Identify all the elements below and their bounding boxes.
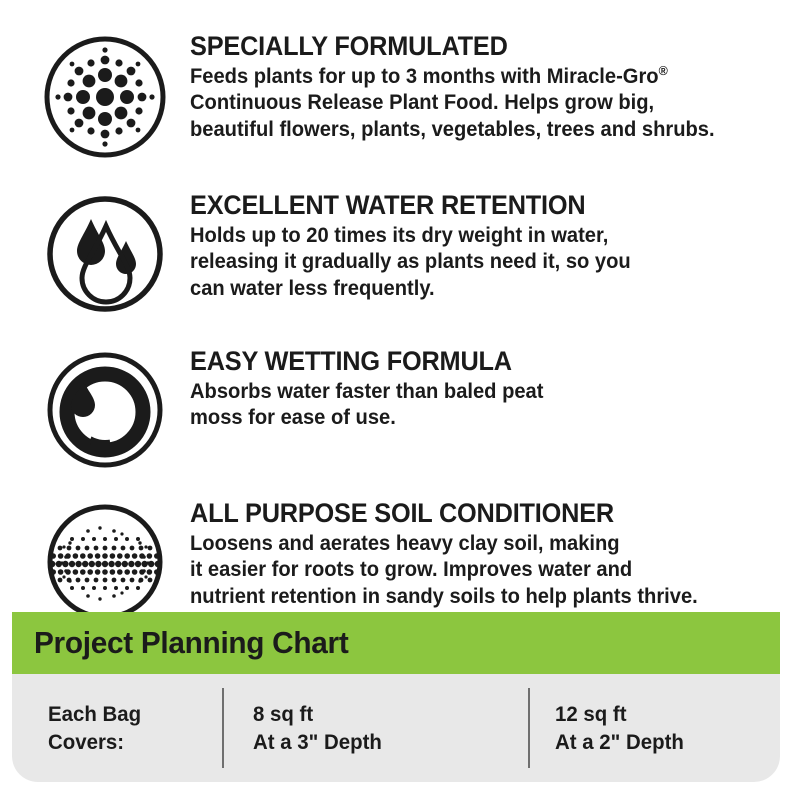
water-drop-icon bbox=[44, 193, 166, 315]
feature-body-line: Continuous Release Plant Food. Helps gro… bbox=[190, 90, 779, 117]
feature-icon-container bbox=[42, 497, 168, 623]
feature-icon-container bbox=[42, 30, 168, 160]
registered-mark: ® bbox=[659, 63, 668, 78]
feature-body-line: moss for ease of use. bbox=[190, 405, 779, 432]
chart-cell-coverage-2in: 12 sq ft At a 2" Depth bbox=[555, 700, 684, 757]
chart-cell-line: 12 sq ft bbox=[555, 700, 684, 728]
chart-cell-line: At a 3" Depth bbox=[253, 728, 382, 756]
feature-title: SPECIALLY FORMULATED bbox=[190, 32, 753, 61]
feature-text-block: EXCELLENT WATER RETENTION Holds up to 20… bbox=[168, 189, 780, 303]
feature-text-block: SPECIALLY FORMULATED Feeds plants for up… bbox=[168, 30, 780, 144]
feature-icon-container bbox=[42, 189, 168, 315]
feature-body-line: it easier for roots to grow. Improves wa… bbox=[190, 557, 779, 584]
absorbing-ring-icon bbox=[44, 349, 166, 471]
chart-body: Each Bag Covers: 8 sq ft At a 3" Depth 1… bbox=[12, 674, 780, 782]
feature-item-easy-wetting-formula: EASY WETTING FORMULA Absorbs water faste… bbox=[0, 345, 800, 471]
column-divider bbox=[528, 688, 530, 768]
chart-cell-line: Covers: bbox=[48, 728, 141, 756]
feature-list: SPECIALLY FORMULATED Feeds plants for up… bbox=[0, 0, 800, 623]
feature-body-line: can water less frequently. bbox=[190, 276, 779, 303]
chart-cell-line: Each Bag bbox=[48, 700, 141, 728]
feature-body: Feeds plants for up to 3 months with Mir… bbox=[190, 64, 779, 144]
feature-title: EASY WETTING FORMULA bbox=[190, 347, 753, 376]
feature-body-line: beautiful flowers, plants, vegetables, t… bbox=[190, 117, 779, 144]
feature-body-line: Loosens and aerates heavy clay soil, mak… bbox=[190, 531, 779, 558]
chart-cell-label: Each Bag Covers: bbox=[48, 700, 141, 757]
feature-body-line: nutrient retention in sandy soils to hel… bbox=[190, 584, 779, 611]
feature-body-line: releasing it gradually as plants need it… bbox=[190, 249, 779, 276]
feature-body-line: Absorbs water faster than baled peat bbox=[190, 379, 779, 406]
granule-dispersion-icon bbox=[42, 34, 168, 160]
chart-cell-line: 8 sq ft bbox=[253, 700, 382, 728]
chart-cell-coverage-3in: 8 sq ft At a 3" Depth bbox=[253, 700, 382, 757]
feature-body-line: Feeds plants for up to 3 months with Mir… bbox=[190, 64, 779, 91]
feature-title: EXCELLENT WATER RETENTION bbox=[190, 191, 753, 220]
feature-item-excellent-water-retention: EXCELLENT WATER RETENTION Holds up to 20… bbox=[0, 189, 800, 315]
feature-body: Absorbs water faster than baled peat mos… bbox=[190, 379, 779, 433]
feature-text-block: ALL PURPOSE SOIL CONDITIONER Loosens and… bbox=[168, 497, 780, 611]
feature-text-block: EASY WETTING FORMULA Absorbs water faste… bbox=[168, 345, 780, 432]
feature-icon-container bbox=[42, 345, 168, 471]
chart-header-bar: Project Planning Chart bbox=[12, 612, 780, 674]
chart-header-title: Project Planning Chart bbox=[34, 625, 348, 661]
feature-item-all-purpose-soil-conditioner: ALL PURPOSE SOIL CONDITIONER Loosens and… bbox=[0, 497, 800, 623]
soil-particles-icon bbox=[44, 501, 166, 623]
project-planning-chart-panel: Project Planning Chart Each Bag Covers: … bbox=[12, 612, 780, 782]
column-divider bbox=[222, 688, 224, 768]
chart-cell-line: At a 2" Depth bbox=[555, 728, 684, 756]
feature-title: ALL PURPOSE SOIL CONDITIONER bbox=[190, 499, 753, 528]
feature-item-specially-formulated: SPECIALLY FORMULATED Feeds plants for up… bbox=[0, 30, 800, 160]
feature-body: Loosens and aerates heavy clay soil, mak… bbox=[190, 531, 779, 611]
feature-body-line: Holds up to 20 times its dry weight in w… bbox=[190, 223, 779, 250]
feature-body: Holds up to 20 times its dry weight in w… bbox=[190, 223, 779, 303]
